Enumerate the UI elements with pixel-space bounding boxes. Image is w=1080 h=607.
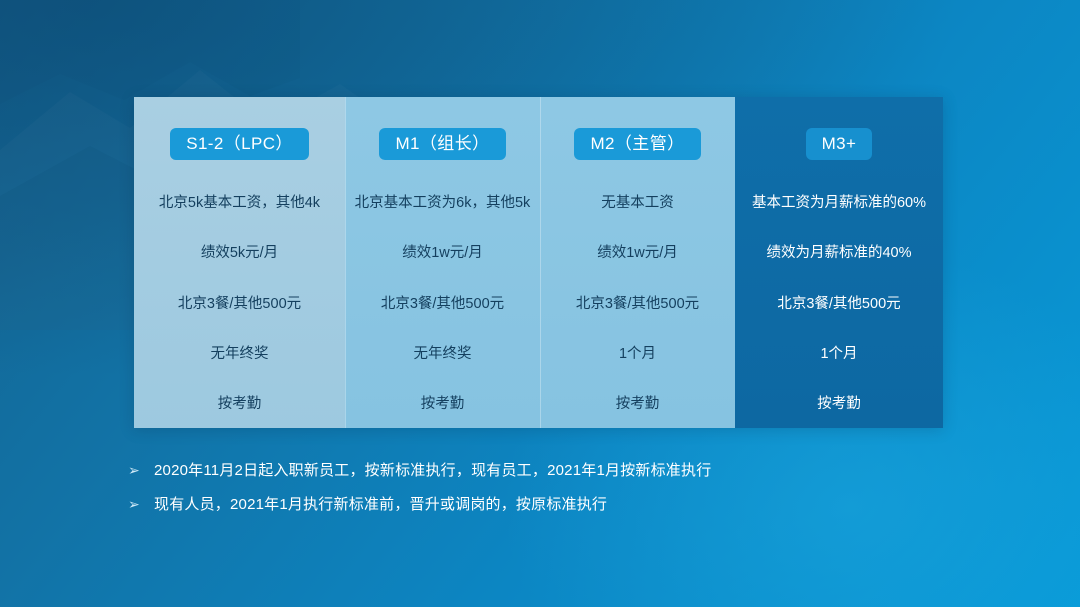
table-cell: 北京5k基本工资，其他4k bbox=[134, 176, 345, 226]
column-rows-s1-2: 北京5k基本工资，其他4k 绩效5k元/月 北京3餐/其他500元 无年终奖 按… bbox=[134, 160, 345, 428]
table-cell: 北京3餐/其他500元 bbox=[540, 277, 735, 327]
notes-list: ➢ 2020年11月2日起入职新员工，按新标准执行，现有员工，2021年1月按新… bbox=[128, 459, 978, 527]
column-rows-m3-plus: 基本工资为月薪标准的60% 绩效为月薪标准的40% 北京3餐/其他500元 1个… bbox=[735, 160, 943, 428]
table-cell: 绩效1w元/月 bbox=[540, 226, 735, 276]
table-cell: 北京3餐/其他500元 bbox=[345, 277, 540, 327]
table-column-m1: M1（组长） 北京基本工资为6k，其他5k 绩效1w元/月 北京3餐/其他500… bbox=[345, 97, 540, 428]
table-cell: 按考勤 bbox=[540, 378, 735, 428]
column-rows-m2: 无基本工资 绩效1w元/月 北京3餐/其他500元 1个月 按考勤 bbox=[540, 160, 735, 428]
table-column-s1-2: S1-2（LPC） 北京5k基本工资，其他4k 绩效5k元/月 北京3餐/其他5… bbox=[134, 97, 345, 428]
table-cell: 1个月 bbox=[540, 327, 735, 377]
table-cell: 按考勤 bbox=[735, 378, 943, 428]
table-cell: 北京基本工资为6k，其他5k bbox=[345, 176, 540, 226]
arrow-bullet-icon: ➢ bbox=[128, 497, 154, 511]
table-cell: 无年终奖 bbox=[134, 327, 345, 377]
table-cell: 绩效为月薪标准的40% bbox=[735, 226, 943, 276]
table-column-m2: M2（主管） 无基本工资 绩效1w元/月 北京3餐/其他500元 1个月 按考勤 bbox=[540, 97, 735, 428]
table-cell: 基本工资为月薪标准的60% bbox=[735, 176, 943, 226]
column-badge-m3-plus[interactable]: M3+ bbox=[806, 128, 873, 160]
column-badge-s1-2[interactable]: S1-2（LPC） bbox=[170, 128, 309, 160]
list-item: ➢ 现有人员，2021年1月执行新标准前，晋升或调岗的，按原标准执行 bbox=[128, 493, 978, 514]
table-cell: 绩效1w元/月 bbox=[345, 226, 540, 276]
note-text: 现有人员，2021年1月执行新标准前，晋升或调岗的，按原标准执行 bbox=[154, 493, 978, 514]
table-cell: 北京3餐/其他500元 bbox=[134, 277, 345, 327]
table-cell: 绩效5k元/月 bbox=[134, 226, 345, 276]
column-badge-m1[interactable]: M1（组长） bbox=[379, 128, 505, 160]
compensation-table: S1-2（LPC） 北京5k基本工资，其他4k 绩效5k元/月 北京3餐/其他5… bbox=[134, 97, 943, 428]
table-cell: 按考勤 bbox=[345, 378, 540, 428]
column-badge-m2[interactable]: M2（主管） bbox=[574, 128, 700, 160]
column-rows-m1: 北京基本工资为6k，其他5k 绩效1w元/月 北京3餐/其他500元 无年终奖 … bbox=[345, 160, 540, 428]
table-cell: 1个月 bbox=[735, 327, 943, 377]
arrow-bullet-icon: ➢ bbox=[128, 463, 154, 477]
table-cell: 北京3餐/其他500元 bbox=[735, 277, 943, 327]
list-item: ➢ 2020年11月2日起入职新员工，按新标准执行，现有员工，2021年1月按新… bbox=[128, 459, 978, 480]
table-column-m3-plus: M3+ 基本工资为月薪标准的60% 绩效为月薪标准的40% 北京3餐/其他500… bbox=[735, 97, 943, 428]
table-cell: 无年终奖 bbox=[345, 327, 540, 377]
table-cell: 无基本工资 bbox=[540, 176, 735, 226]
note-text: 2020年11月2日起入职新员工，按新标准执行，现有员工，2021年1月按新标准… bbox=[154, 459, 978, 480]
table-cell: 按考勤 bbox=[134, 378, 345, 428]
slide-canvas: S1-2（LPC） 北京5k基本工资，其他4k 绩效5k元/月 北京3餐/其他5… bbox=[0, 0, 1080, 607]
